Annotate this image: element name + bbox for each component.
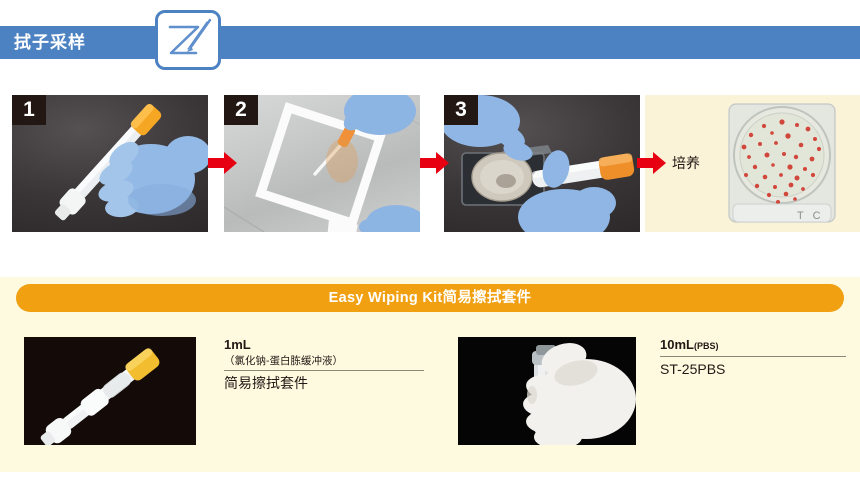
arrow-step1-to-step2 [208,152,238,174]
product-name: ST-25PBS [660,360,846,379]
product-photo-swab-tube [24,337,196,445]
header-bar [0,26,860,59]
step-photo-1: 1 [12,95,208,232]
product-spec-left: 1mL （氯化钠-蛋白胨缓冲液） 简易擦拭套件 [224,337,424,393]
spec-divider [660,356,846,357]
product-spec-right: 10mL(PBS) ST-25PBS [660,337,846,379]
product-name: 简易擦拭套件 [224,374,424,393]
spec-divider [224,370,424,371]
wiping-swab-icon [155,10,221,70]
step-number-1: 1 [12,95,46,125]
step-photo-3: 3 [444,95,640,232]
product-photo-gloved-hand-tube [458,337,636,445]
culture-label: 培养 [672,153,700,173]
kit-banner-title: Easy Wiping Kit简易擦拭套件 [16,284,844,312]
arrow-step3-to-culture [637,152,667,174]
product-quantity: 10mL(PBS) [660,337,846,354]
page-title: 拭子采样 [14,30,86,56]
step-number-2: 2 [224,95,258,125]
step-photo-2: 2 [224,95,420,232]
product-quantity: 1mL [224,337,424,354]
product-buffer-note: （氯化钠-蛋白胨缓冲液） [224,354,424,368]
slide-root: 拭子采样 [0,0,860,480]
arrow-step2-to-step3 [420,152,450,174]
svg-text:T C: T C [797,210,824,222]
step-number-3: 3 [444,95,478,125]
